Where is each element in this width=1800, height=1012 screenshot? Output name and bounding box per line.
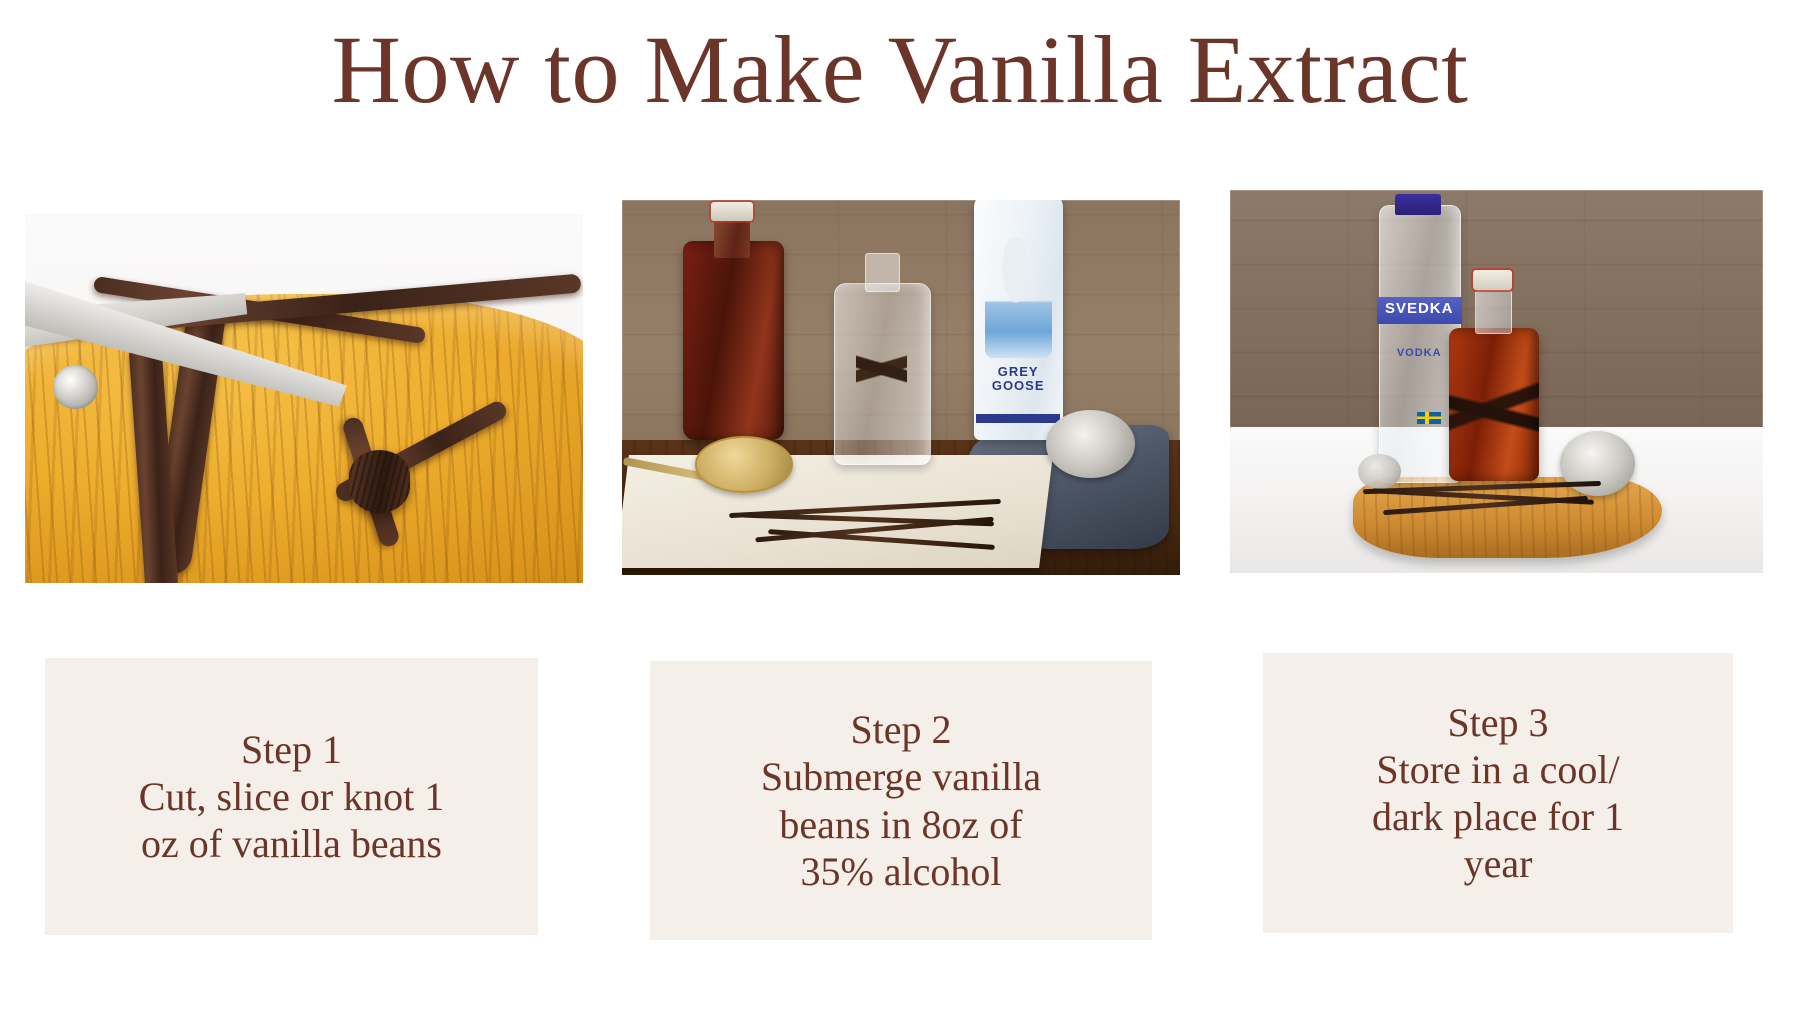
step-1-caption-box: Step 1 Cut, slice or knot 1 oz of vanill… xyxy=(45,658,538,935)
grey-goose-brand-label: GREY GOOSE xyxy=(976,365,1060,395)
extract-bottle-swing-cap xyxy=(1473,270,1513,289)
photo-step-2: GREY GOOSE xyxy=(622,200,1180,575)
page-title: How to Make Vanilla Extract xyxy=(0,18,1800,122)
scissors-pivot-screw xyxy=(53,365,98,409)
photo-step-1 xyxy=(25,213,583,583)
svedka-brand-label: SVEDKA xyxy=(1377,297,1462,324)
step-3-line-1: Store in a cool/ xyxy=(1376,746,1619,793)
step-3-line-3: year xyxy=(1464,840,1533,887)
svedka-bottle-cap xyxy=(1395,194,1440,215)
step-2-line-1: Submerge vanilla xyxy=(761,753,1041,800)
step-2-caption-box: Step 2 Submerge vanilla beans in 8oz of … xyxy=(650,661,1152,940)
metal-funnel xyxy=(1046,410,1135,478)
vodka-label-stripe xyxy=(976,414,1060,423)
clear-bottle-neck xyxy=(865,253,900,293)
mesh-strainer xyxy=(695,436,794,493)
extract-bottle-neck xyxy=(1475,290,1512,334)
step-2-line-2: beans in 8oz of xyxy=(779,801,1022,848)
step-3-line-2: dark place for 1 xyxy=(1372,793,1624,840)
step-2-line-3: 35% alcohol xyxy=(800,848,1001,895)
photo-step-3: SVEDKA VODKA xyxy=(1230,190,1763,573)
dark-bottle-swing-cap xyxy=(711,202,753,221)
step-1-heading: Step 1 xyxy=(241,726,342,773)
finished-extract-bottle xyxy=(1449,328,1540,481)
step-1-line-1: Cut, slice or knot 1 xyxy=(139,773,445,820)
dark-extract-bottle xyxy=(683,241,783,440)
goose-artwork xyxy=(985,238,1052,358)
vanilla-bean-knot xyxy=(349,450,410,513)
step-1-line-2: oz of vanilla beans xyxy=(141,820,442,867)
step-3-caption-box: Step 3 Store in a cool/ dark place for 1… xyxy=(1263,653,1733,933)
loose-vanilla-beans xyxy=(1358,481,1635,512)
loose-vanilla-beans xyxy=(722,500,1046,549)
step-3-heading: Step 3 xyxy=(1447,699,1548,746)
vanilla-beans-in-bottle xyxy=(856,290,906,448)
step-2-heading: Step 2 xyxy=(850,706,951,753)
swedish-flag-icon xyxy=(1417,412,1441,424)
